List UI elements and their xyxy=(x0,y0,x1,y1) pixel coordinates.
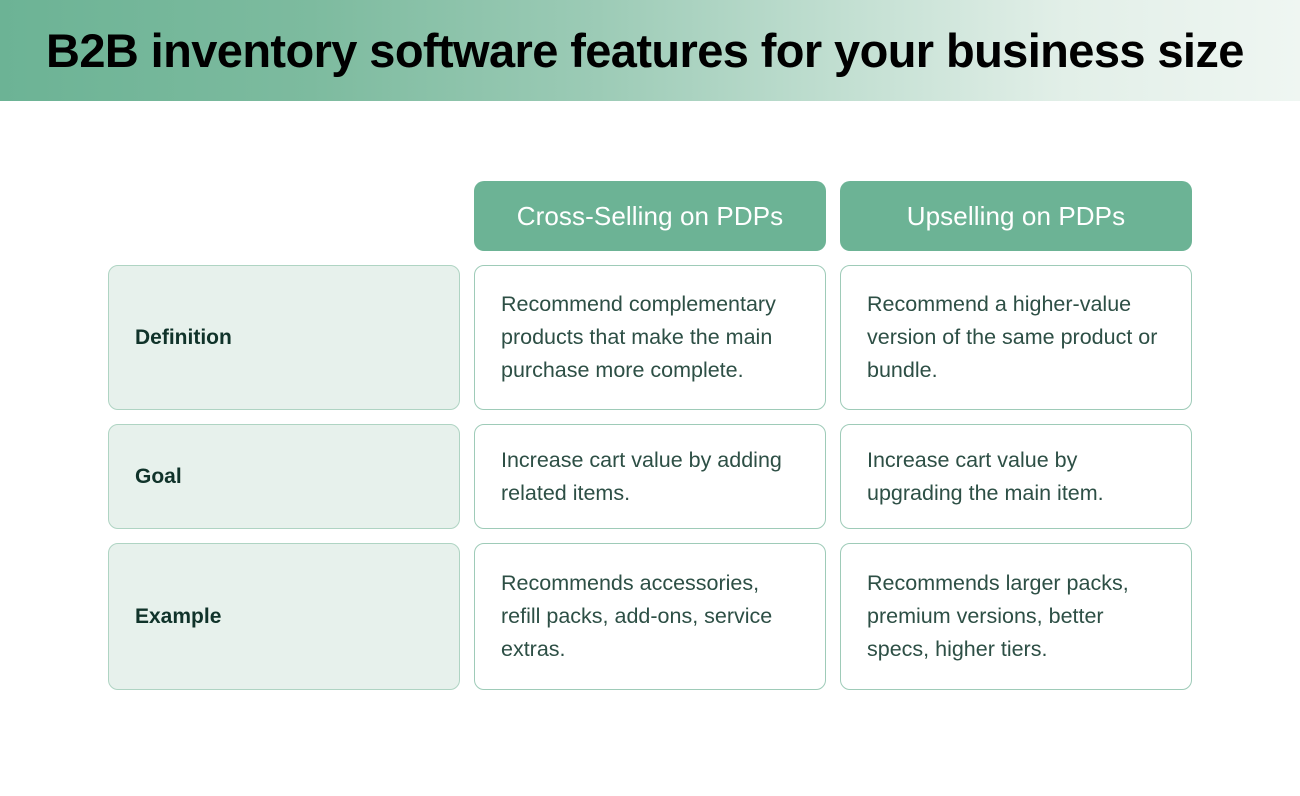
row-label-definition: Definition xyxy=(108,265,460,410)
row-label-goal: Goal xyxy=(108,424,460,529)
cell-text: Increase cart value by upgrading the mai… xyxy=(867,444,1165,510)
cell-example-cross-selling: Recommends accessories, refill packs, ad… xyxy=(474,543,826,690)
table-header-row: Cross-Selling on PDPs Upselling on PDPs xyxy=(108,181,1192,251)
cell-text: Recommend complementary products that ma… xyxy=(501,288,799,387)
cell-text: Recommends accessories, refill packs, ad… xyxy=(501,567,799,666)
cell-text: Recommends larger packs, premium version… xyxy=(867,567,1165,666)
cell-goal-upselling: Increase cart value by upgrading the mai… xyxy=(840,424,1192,529)
cell-definition-cross-selling: Recommend complementary products that ma… xyxy=(474,265,826,410)
header-banner: B2B inventory software features for your… xyxy=(0,0,1300,101)
column-header-upselling: Upselling on PDPs xyxy=(840,181,1192,251)
header-corner-spacer xyxy=(108,181,460,251)
row-label-example: Example xyxy=(108,543,460,690)
slide-canvas: B2B inventory software features for your… xyxy=(0,0,1300,796)
cell-definition-upselling: Recommend a higher-value version of the … xyxy=(840,265,1192,410)
cell-text: Recommend a higher-value version of the … xyxy=(867,288,1165,387)
cell-example-upselling: Recommends larger packs, premium version… xyxy=(840,543,1192,690)
cell-text: Increase cart value by adding related it… xyxy=(501,444,799,510)
table-row: Definition Recommend complementary produ… xyxy=(108,265,1192,410)
page-title: B2B inventory software features for your… xyxy=(46,27,1244,74)
column-header-cross-selling: Cross-Selling on PDPs xyxy=(474,181,826,251)
cell-goal-cross-selling: Increase cart value by adding related it… xyxy=(474,424,826,529)
table-row: Goal Increase cart value by adding relat… xyxy=(108,424,1192,529)
comparison-table: Cross-Selling on PDPs Upselling on PDPs … xyxy=(108,181,1192,690)
table-row: Example Recommends accessories, refill p… xyxy=(108,543,1192,690)
